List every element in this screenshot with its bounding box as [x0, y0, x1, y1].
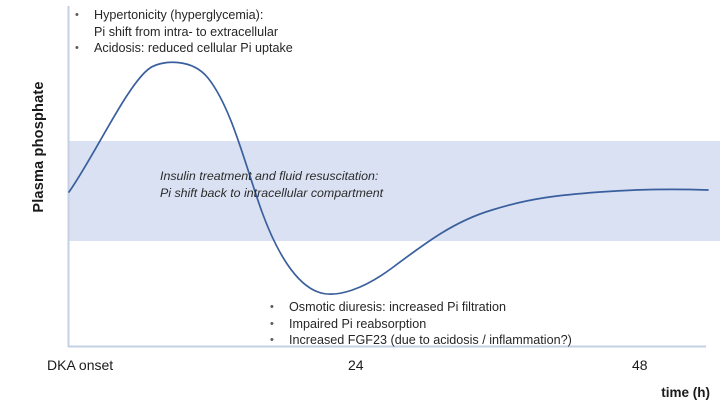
- bullet-item-acidosis: Acidosis: reduced cellular Pi uptake: [75, 40, 293, 57]
- x-tick-label-24: 24: [348, 357, 364, 373]
- bullet-item-hypertonicity: Hypertonicity (hyperglycemia):: [75, 7, 293, 24]
- x-tick-label-48: 48: [632, 357, 648, 373]
- bullet-item-increased-fgf23: Increased FGF23 (due to acidosis / infla…: [270, 332, 572, 349]
- annotation-bottom-bullets: Osmotic diuresis: increased Pi filtratio…: [270, 299, 572, 349]
- x-tick-label-dka-onset: DKA onset: [47, 357, 113, 373]
- y-axis-title: Plasma phosphate: [31, 57, 47, 237]
- bullet-item-impaired-reabsorption: Impaired Pi reabsorption: [270, 316, 572, 333]
- bullet-item-osmotic-diuresis: Osmotic diuresis: increased Pi filtratio…: [270, 299, 572, 316]
- annotation-band-note: Insulin treatment and fluid resuscitatio…: [160, 168, 383, 202]
- band-note-line-2: Pi shift back to intracellular compartme…: [160, 185, 383, 202]
- annotation-top-bullets: Hypertonicity (hyperglycemia): Pi shift …: [75, 7, 293, 57]
- band-note-line-1: Insulin treatment and fluid resuscitatio…: [160, 168, 383, 185]
- slide-canvas: Plasma phosphate DKA onset 24 48 time (h…: [0, 0, 720, 409]
- x-axis-title: time (h): [560, 385, 710, 400]
- bullet-subline-pi-shift-out: Pi shift from intra- to extracellular: [75, 24, 293, 41]
